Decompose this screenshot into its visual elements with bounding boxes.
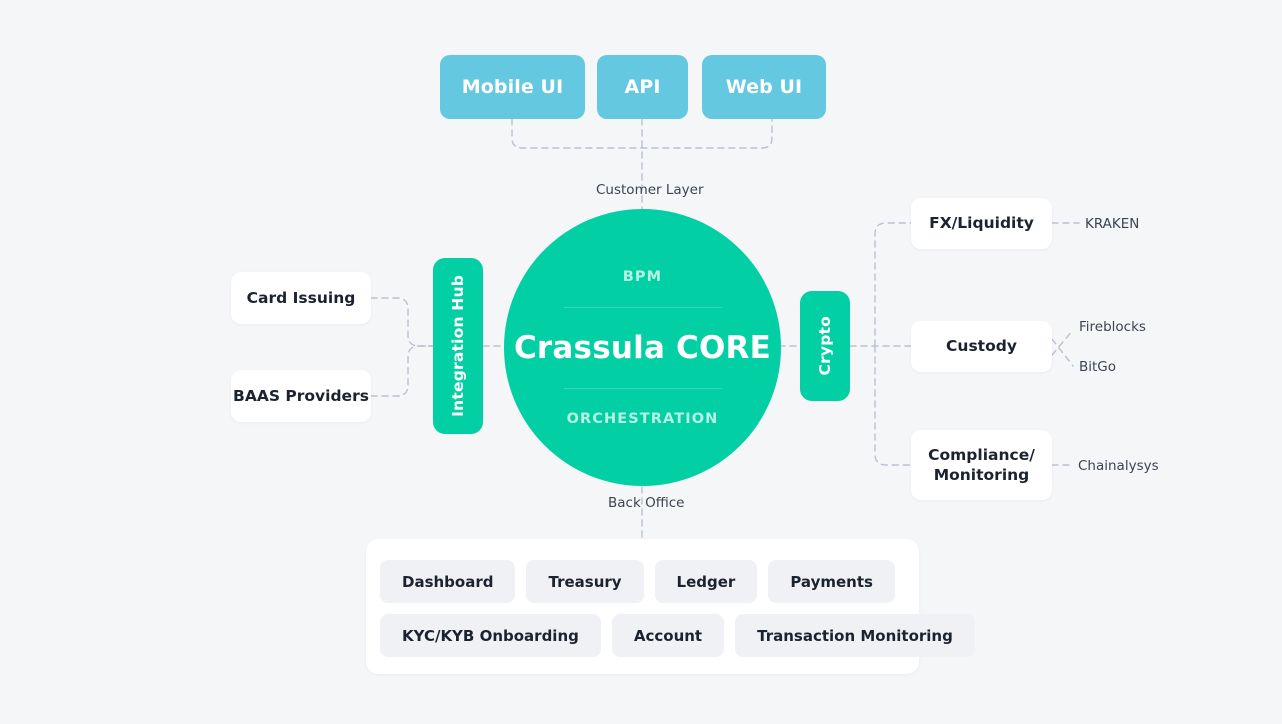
provider-baas-label: BAAS Providers <box>233 386 369 406</box>
back-office-panel: Dashboard Treasury Ledger Payments KYC/K… <box>366 539 919 674</box>
provider-card-issuing-label: Card Issuing <box>247 288 356 308</box>
core-divider-bottom <box>564 388 722 389</box>
back-office-item-ledger-label: Ledger <box>677 573 736 591</box>
core-divider-top <box>564 307 722 308</box>
back-office-item-transaction-monitoring-label: Transaction Monitoring <box>757 627 953 645</box>
back-office-row-primary: Dashboard Treasury Ledger Payments <box>380 560 895 603</box>
back-office-row-secondary: KYC/KYB Onboarding Account Transaction M… <box>380 614 975 657</box>
core-orchestration-label: ORCHESTRATION <box>567 411 719 427</box>
customer-layer-caption: Customer Layer <box>596 182 704 198</box>
channel-api-label: API <box>625 76 661 98</box>
channel-web-ui[interactable]: Web UI <box>702 55 826 119</box>
vendor-fireblocks: Fireblocks <box>1079 319 1146 335</box>
back-office-item-dashboard[interactable]: Dashboard <box>380 560 515 603</box>
service-compliance-monitoring-label: Compliance/ Monitoring <box>928 445 1035 486</box>
back-office-item-treasury-label: Treasury <box>548 573 621 591</box>
back-office-item-ledger[interactable]: Ledger <box>655 560 758 603</box>
back-office-item-payments[interactable]: Payments <box>768 560 895 603</box>
service-custody-label: Custody <box>946 336 1017 356</box>
vendor-kraken: KRAKEN <box>1085 216 1139 232</box>
back-office-caption: Back Office <box>608 495 684 511</box>
channel-mobile-ui-label: Mobile UI <box>462 76 564 98</box>
back-office-item-treasury[interactable]: Treasury <box>526 560 643 603</box>
channel-mobile-ui[interactable]: Mobile UI <box>440 55 585 119</box>
service-compliance-monitoring[interactable]: Compliance/ Monitoring <box>911 430 1052 500</box>
core-bpm-label: BPM <box>623 269 662 285</box>
vendor-bitgo: BitGo <box>1079 359 1116 375</box>
back-office-item-account-label: Account <box>634 627 702 645</box>
core-title: Crassula CORE <box>514 330 771 366</box>
back-office-item-account[interactable]: Account <box>612 614 724 657</box>
provider-card-issuing[interactable]: Card Issuing <box>231 272 371 324</box>
back-office-item-kyc-kyb-onboarding-label: KYC/KYB Onboarding <box>402 627 579 645</box>
service-custody[interactable]: Custody <box>911 321 1052 372</box>
back-office-item-kyc-kyb-onboarding[interactable]: KYC/KYB Onboarding <box>380 614 601 657</box>
back-office-item-dashboard-label: Dashboard <box>402 573 493 591</box>
integration-hub-bar[interactable]: Integration Hub <box>433 258 483 434</box>
channel-api[interactable]: API <box>597 55 688 119</box>
crypto-bar[interactable]: Crypto <box>800 291 850 401</box>
channel-web-ui-label: Web UI <box>726 76 802 98</box>
provider-baas[interactable]: BAAS Providers <box>231 370 371 422</box>
service-fx-liquidity[interactable]: FX/Liquidity <box>911 198 1052 249</box>
core-platform-circle: BPM Crassula CORE ORCHESTRATION <box>504 209 781 486</box>
back-office-item-transaction-monitoring[interactable]: Transaction Monitoring <box>735 614 975 657</box>
vendor-chainalysys: Chainalysys <box>1078 458 1159 474</box>
service-fx-liquidity-label: FX/Liquidity <box>929 213 1034 233</box>
diagram-canvas: Mobile UI API Web UI Customer Layer BPM … <box>0 0 1282 724</box>
crypto-label: Crypto <box>816 316 834 375</box>
integration-hub-label: Integration Hub <box>449 275 467 417</box>
back-office-item-payments-label: Payments <box>790 573 873 591</box>
